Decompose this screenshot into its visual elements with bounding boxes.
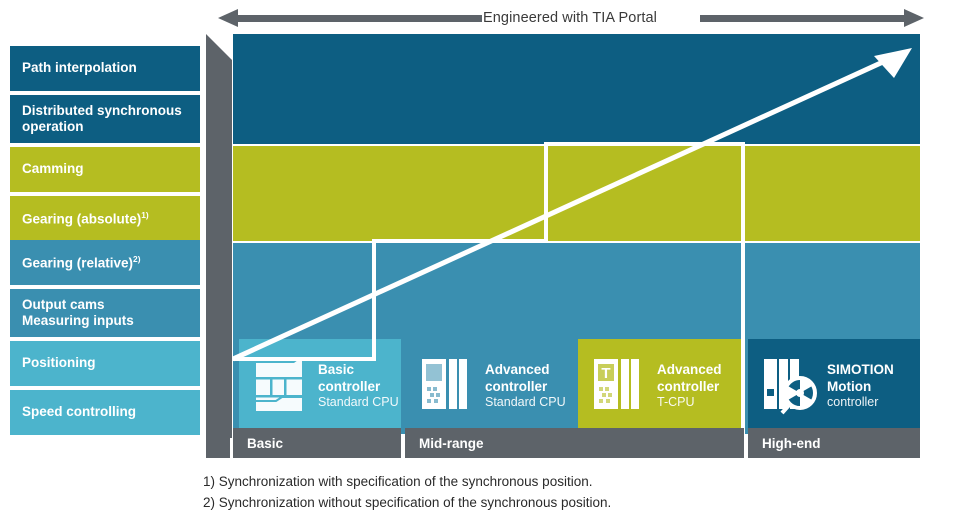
svg-text:T: T — [601, 365, 610, 382]
card-text-line-2: controller — [485, 379, 566, 395]
feature-label: Distributed synchronous — [22, 103, 182, 119]
card-text-line-1: SIMOTION — [827, 362, 894, 378]
arrow-right-icon — [904, 9, 924, 27]
footnote: 1) Synchronization with specification of… — [203, 472, 903, 493]
feature-item[interactable]: Output camsMeasuring inputs — [10, 289, 200, 337]
axis-segment[interactable]: Basic — [233, 428, 401, 458]
feature-label: Output cams — [22, 297, 134, 313]
feature-label: Gearing (relative)2) — [22, 254, 140, 272]
axis-segment-label: High-end — [762, 436, 821, 451]
feature-item[interactable]: Gearing (relative)2) — [10, 240, 200, 285]
capability-chart: BasiccontrollerStandard CPUAdvancedcontr… — [206, 34, 920, 434]
simotion-icon — [762, 353, 818, 420]
arrow-right-shaft — [700, 15, 904, 22]
card-text-line-2: Motion — [827, 379, 894, 395]
card-advanced-standard[interactable]: AdvancedcontrollerStandard CPU — [406, 339, 574, 434]
feature-label: Speed controlling — [22, 404, 136, 420]
axis-segment-label: Mid-range — [419, 436, 484, 451]
feature-item[interactable]: Gearing (absolute)1) — [10, 196, 200, 241]
arrow-left-icon — [218, 9, 238, 27]
card-advanced-tcpu[interactable]: TAdvancedcontrollerT-CPU — [578, 339, 744, 434]
yellow-band — [233, 146, 920, 241]
axis-segment-label: Basic — [247, 436, 283, 451]
axis-segment[interactable]: Mid-range — [405, 428, 744, 458]
feature-item[interactable]: Speed controlling — [10, 390, 200, 435]
feature-item[interactable]: Camming — [10, 147, 200, 192]
feature-item[interactable]: Positioning — [10, 341, 200, 386]
card-text-line-3: Standard CPU — [318, 395, 399, 410]
plc-advanced-icon — [420, 353, 476, 420]
card-text-line-3: T-CPU — [657, 395, 722, 410]
feature-label: Positioning — [22, 355, 96, 371]
card-text-line-1: Advanced — [657, 362, 722, 378]
feature-item[interactable]: Path interpolation — [10, 46, 200, 91]
card-text-line-3: Standard CPU — [485, 395, 566, 410]
dark-blue-band — [233, 34, 920, 144]
feature-footnote-marker: 1) — [141, 210, 148, 220]
feature-footnote-marker: 2) — [133, 254, 140, 264]
card-text-line-2: controller — [318, 379, 399, 395]
axis-3d-left — [206, 428, 230, 458]
footnotes: 1) Synchronization with specification of… — [203, 472, 903, 514]
card-text-line-2: controller — [657, 379, 722, 395]
axis-3d-corner — [892, 428, 926, 458]
controller-class-axis: High-endMid-rangeBasic — [206, 428, 920, 458]
plc-tcpu-icon: T — [592, 353, 648, 420]
card-text-line-1: Advanced — [485, 362, 566, 378]
card-text-line-1: Basic — [318, 362, 399, 378]
feature-label: Gearing (absolute)1) — [22, 210, 149, 228]
feature-label-second-line: operation — [22, 119, 182, 135]
feature-label: Path interpolation — [22, 60, 137, 76]
header-bar: Engineered with TIA Portal — [0, 0, 960, 36]
card-basic-controller[interactable]: BasiccontrollerStandard CPU — [239, 339, 401, 434]
card-text-line-3: controller — [827, 395, 894, 410]
feature-label-second-line: Measuring inputs — [22, 313, 134, 329]
footnote: 2) Synchronization without specification… — [203, 493, 903, 514]
feature-label: Camming — [22, 161, 84, 177]
header-title: Engineered with TIA Portal — [440, 10, 700, 26]
feature-item[interactable]: Distributed synchronousoperation — [10, 95, 200, 143]
card-simotion[interactable]: SIMOTIONMotioncontroller — [748, 339, 920, 434]
plc-basic-icon — [253, 353, 309, 420]
